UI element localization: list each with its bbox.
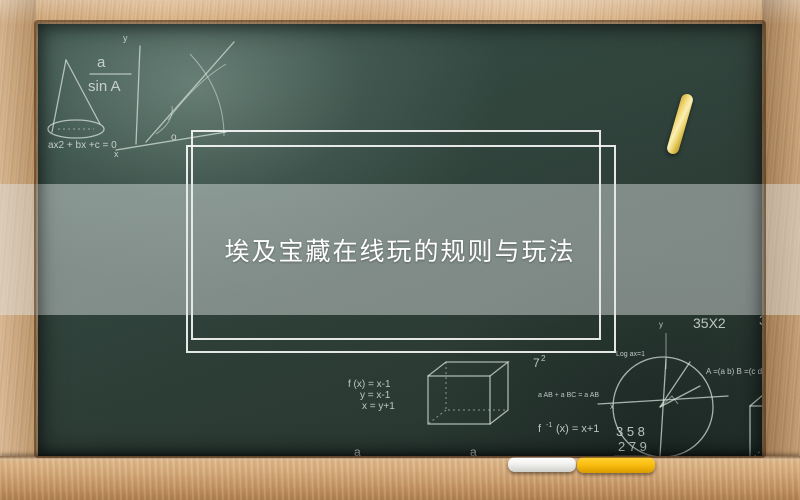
blackboard-banner: y x o a sin A ax2 + bx +c = 0 f (x) = x-…	[0, 0, 800, 500]
yellow-chalk-tray-icon	[577, 457, 655, 473]
chalk-tray	[0, 456, 800, 500]
white-chalk-icon	[508, 457, 576, 472]
tray-lip	[0, 456, 800, 460]
frame-inner-shadow	[36, 22, 764, 456]
